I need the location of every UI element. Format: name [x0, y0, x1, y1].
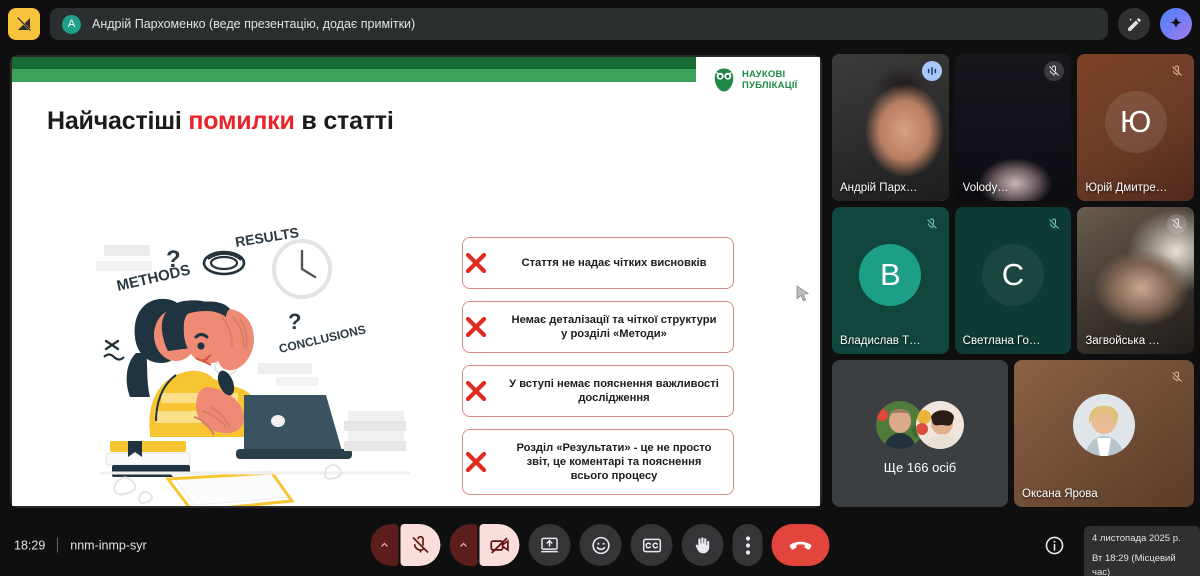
network-off-icon[interactable] [8, 8, 40, 40]
presenter-avatar: A [62, 15, 81, 34]
owl-icon [712, 68, 736, 92]
tooltip-date: 4 листопада 2025 р. [1092, 532, 1192, 546]
participant-name: Юрій Дмитрен… [1085, 182, 1168, 194]
emoji-smile-icon[interactable] [580, 524, 622, 566]
participant-tile-yurii[interactable]: Ю Юрій Дмитрен… [1077, 54, 1194, 201]
present-screen-icon[interactable] [529, 524, 571, 566]
bullet-list: Стаття не надає чітких висновків Немає д… [462, 237, 734, 506]
camera-off-icon[interactable] [480, 524, 520, 566]
microphone-toggle[interactable] [371, 524, 441, 566]
overflow-avatars [876, 401, 964, 449]
microphone-options-caret[interactable] [371, 524, 399, 566]
bullet-text: У вступі немає пояснення важливості досл… [509, 377, 719, 405]
avatar: С [982, 244, 1044, 306]
bullet-item: Немає деталізації та чіткої структури у … [462, 301, 734, 353]
participant-grid: Андрій Пархом… Volody… Ю [832, 54, 1194, 513]
participant-tile-andrii[interactable]: Андрій Пархом… [832, 54, 949, 201]
presenter-banner[interactable]: A Андрій Пархоменко (веде презентацію, д… [50, 8, 1108, 40]
brand-logo-line2: ПУБЛІКАЦІЇ [742, 80, 798, 91]
participant-tile-volody[interactable]: Volody… [955, 54, 1072, 201]
participant-name: Оксана Ярова [1022, 488, 1168, 500]
meeting-info: 18:29 nnm-inmp-syr [14, 538, 147, 553]
bullet-text: Немає деталізації та чіткої структури у … [509, 313, 719, 341]
slide-header-bar-light [12, 69, 704, 82]
participant-row: Ще 166 осіб [832, 360, 1194, 507]
participant-tile-vladyslav[interactable]: В Владислав Т… [832, 207, 949, 354]
bullet-item: Стаття не надає чітких висновків [462, 237, 734, 289]
mouse-cursor [796, 285, 810, 303]
tooltip-time: Вт 18:29 (Місцевий час) [1092, 552, 1192, 576]
brand-logo: НАУКОВІ ПУБЛІКАЦІЇ [696, 57, 820, 102]
participant-tile-overflow[interactable]: Ще 166 осіб [832, 360, 1008, 507]
info-circle-icon[interactable] [1038, 529, 1070, 561]
participant-tile-oksana[interactable]: Оксана Ярова [1014, 360, 1194, 507]
divider [57, 538, 58, 553]
slide-title-part2: в статті [295, 107, 394, 135]
bottom-bar: 18:29 nnm-inmp-syr [0, 514, 1200, 576]
local-time-tooltip: 4 листопада 2025 р. Вт 18:29 (Місцевий ч… [1084, 526, 1200, 576]
camera-toggle[interactable] [450, 524, 520, 566]
participant-name: Светлана Го… [963, 335, 1046, 347]
closed-captions-icon[interactable] [631, 524, 673, 566]
svg-text:?: ? [166, 246, 181, 273]
slide-content: НАУКОВІ ПУБЛІКАЦІЇ Найчастіші помилки в … [12, 57, 820, 506]
participant-name: Загвойська … [1085, 335, 1168, 347]
bullet-text: Розділ «Результати» - це не просто звіт,… [509, 441, 719, 483]
audio-level-icon [922, 61, 942, 81]
participant-tile-svetlana[interactable]: С Светлана Го… [955, 207, 1072, 354]
participant-name: Volody… [963, 182, 1046, 194]
camera-options-caret[interactable] [450, 524, 478, 566]
raised-hand-icon[interactable] [682, 524, 724, 566]
avatar: В [859, 244, 921, 306]
participant-tile-zagvoiska[interactable]: Загвойська … [1077, 207, 1194, 354]
slide-header-bar-dark [12, 57, 704, 69]
bullet-item: У вступі немає пояснення важливості досл… [462, 365, 734, 417]
overflow-count-label: Ще 166 осіб [832, 460, 1008, 475]
bullet-text: Стаття не надає чітких висновків [522, 256, 707, 270]
slide-title-part1: Найчастіші [47, 107, 188, 135]
frustrated-student-illustration: METHODS RESULTS CONCLUSIONS ? ? [80, 225, 430, 506]
mic-off-icon[interactable] [401, 524, 441, 566]
x-mark-icon [461, 248, 491, 278]
participant-row: Андрій Пархом… Volody… Ю [832, 54, 1194, 201]
mic-off-icon [1167, 367, 1187, 387]
svg-text:?: ? [288, 309, 301, 334]
clock-label: 18:29 [14, 538, 45, 552]
x-mark-icon [461, 312, 491, 342]
presenter-label: Андрій Пархоменко (веде презентацію, дод… [92, 17, 415, 31]
slide-title: Найчастіші помилки в статті [47, 107, 394, 136]
x-mark-icon [461, 447, 491, 477]
avatar [1073, 394, 1135, 456]
brand-logo-line1: НАУКОВІ [742, 69, 798, 80]
slide-title-highlight: помилки [188, 107, 294, 135]
mic-off-icon [1044, 214, 1064, 234]
gemini-star-icon[interactable] [1160, 8, 1192, 40]
participant-name: Владислав Т… [840, 335, 923, 347]
avatar [916, 401, 964, 449]
phone-hangup-icon [788, 532, 814, 558]
three-dots-icon[interactable] [733, 524, 763, 566]
x-mark-icon [461, 376, 491, 406]
mic-off-icon [1167, 61, 1187, 81]
call-controls [371, 524, 830, 566]
mic-off-icon [922, 214, 942, 234]
meeting-code-label: nnm-inmp-syr [70, 538, 146, 552]
brand-logo-text: НАУКОВІ ПУБЛІКАЦІЇ [742, 69, 798, 91]
google-meet-window: A Андрій Пархоменко (веде презентацію, д… [0, 0, 1200, 576]
mic-off-icon [1167, 214, 1187, 234]
avatar: Ю [1105, 91, 1167, 153]
bullet-item: Розділ «Результати» - це не просто звіт,… [462, 429, 734, 495]
participant-name: Андрій Пархом… [840, 182, 923, 194]
top-bar: A Андрій Пархоменко (веде презентацію, д… [0, 0, 1200, 48]
participant-row: В Владислав Т… С [832, 207, 1194, 354]
pencil-sparkle-icon[interactable] [1118, 8, 1150, 40]
end-call-button[interactable] [772, 524, 830, 566]
presentation-stage[interactable]: НАУКОВІ ПУБЛІКАЦІЇ Найчастіші помилки в … [10, 55, 822, 508]
